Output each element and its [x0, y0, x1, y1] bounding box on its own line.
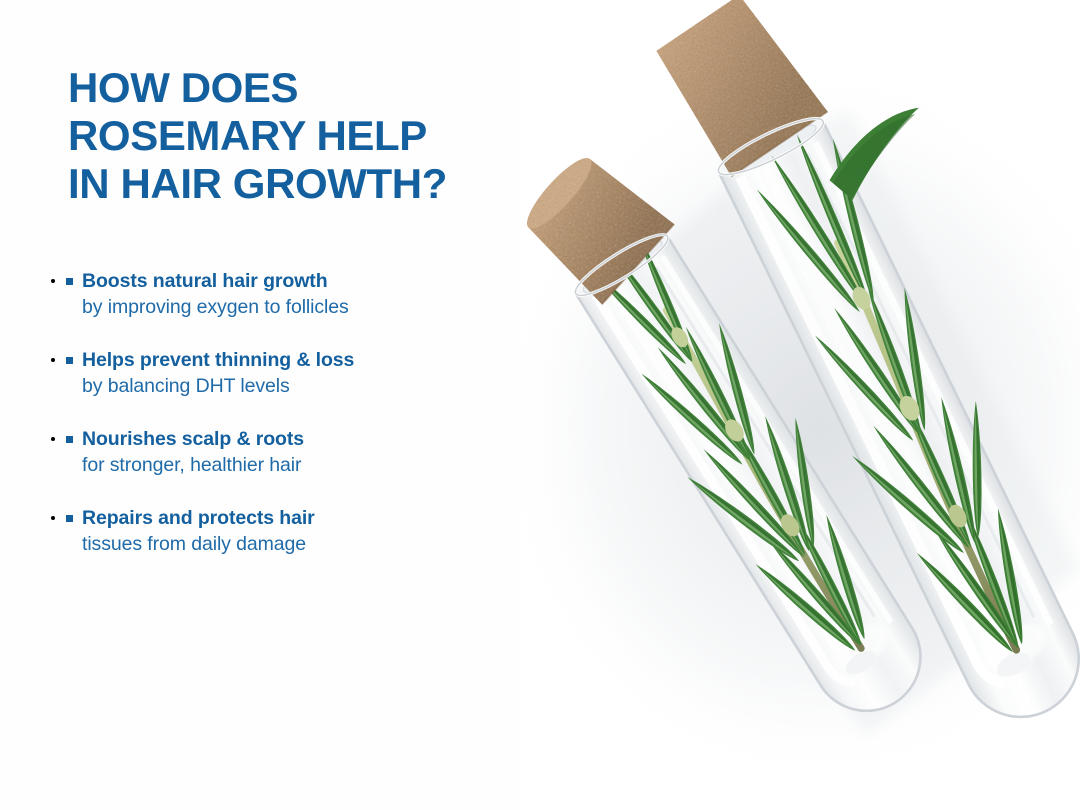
benefits-list: Boosts natural hair growth by improving …: [66, 268, 536, 558]
bullet-title: Boosts natural hair growth: [82, 268, 328, 294]
square-bullet-icon: [66, 515, 73, 522]
list-item: Helps prevent thinning & loss by balanci…: [66, 347, 536, 400]
list-item: Boosts natural hair growth by improving …: [66, 268, 536, 321]
photo-illustration: [520, 0, 1080, 810]
bullet-title: Nourishes scalp & roots: [82, 426, 304, 452]
bullet-heading-row: Helps prevent thinning & loss: [66, 347, 536, 373]
headline-line-1: HOW DOES: [68, 64, 588, 112]
bullet-heading-row: Repairs and protects hair: [66, 505, 536, 531]
bullet-subtitle: by improving exygen to follicles: [82, 294, 536, 321]
headline-line-2: ROSEMARY HELP: [68, 112, 588, 160]
bullet-title: Helps prevent thinning & loss: [82, 347, 354, 373]
page-title: HOW DOES ROSEMARY HELP IN HAIR GROWTH?: [68, 64, 588, 208]
bullet-subtitle: tissues from daily damage: [82, 531, 536, 558]
bullet-subtitle: by balancing DHT levels: [82, 373, 536, 400]
square-bullet-icon: [66, 436, 73, 443]
list-item: Nourishes scalp & roots for stronger, he…: [66, 426, 536, 479]
rosemary-test-tube-photo: [520, 0, 1080, 810]
list-item: Repairs and protects hair tissues from d…: [66, 505, 536, 558]
bullet-heading-row: Nourishes scalp & roots: [66, 426, 536, 452]
bullet-subtitle: for stronger, healthier hair: [82, 452, 536, 479]
infographic-poster: HOW DOES ROSEMARY HELP IN HAIR GROWTH? B…: [0, 0, 1080, 810]
headline-line-3: IN HAIR GROWTH?: [68, 160, 588, 208]
bullet-heading-row: Boosts natural hair growth: [66, 268, 536, 294]
square-bullet-icon: [66, 278, 73, 285]
bullet-title: Repairs and protects hair: [82, 505, 315, 531]
square-bullet-icon: [66, 357, 73, 364]
